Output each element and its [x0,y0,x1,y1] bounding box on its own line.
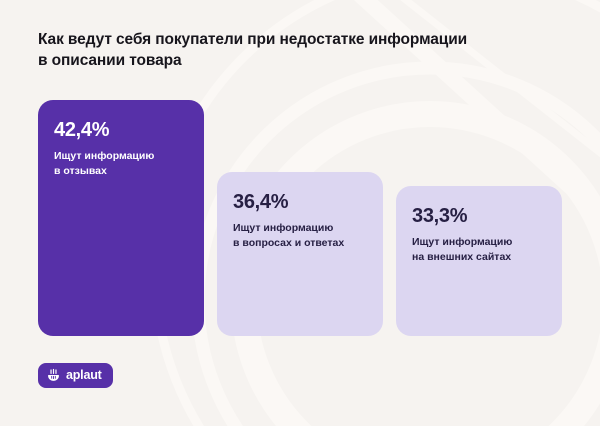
bar-value-label: 36,4% [233,190,367,214]
bar-caption: Ищут информацию в вопросах и ответах [233,221,367,250]
chart-bar-external-sites: 33,3% Ищут информацию на внешних сайтах [396,186,562,336]
clap-hand-icon [46,368,61,383]
logo-wordmark: aplaut [66,369,102,382]
chart-bar-reviews: 42,4% Ищут информацию в отзывах [38,100,204,336]
aplaut-logo: aplaut [38,363,113,388]
bar-caption: Ищут информацию в отзывах [54,149,188,178]
chart-bar-questions-answers: 36,4% Ищут информацию в вопросах и ответ… [217,172,383,336]
bar-value-label: 33,3% [412,204,546,228]
bar-caption: Ищут информацию на внешних сайтах [412,235,546,264]
bar-value-label: 42,4% [54,118,188,142]
infographic-canvas: Как ведут себя покупатели при недостатке… [0,0,600,426]
